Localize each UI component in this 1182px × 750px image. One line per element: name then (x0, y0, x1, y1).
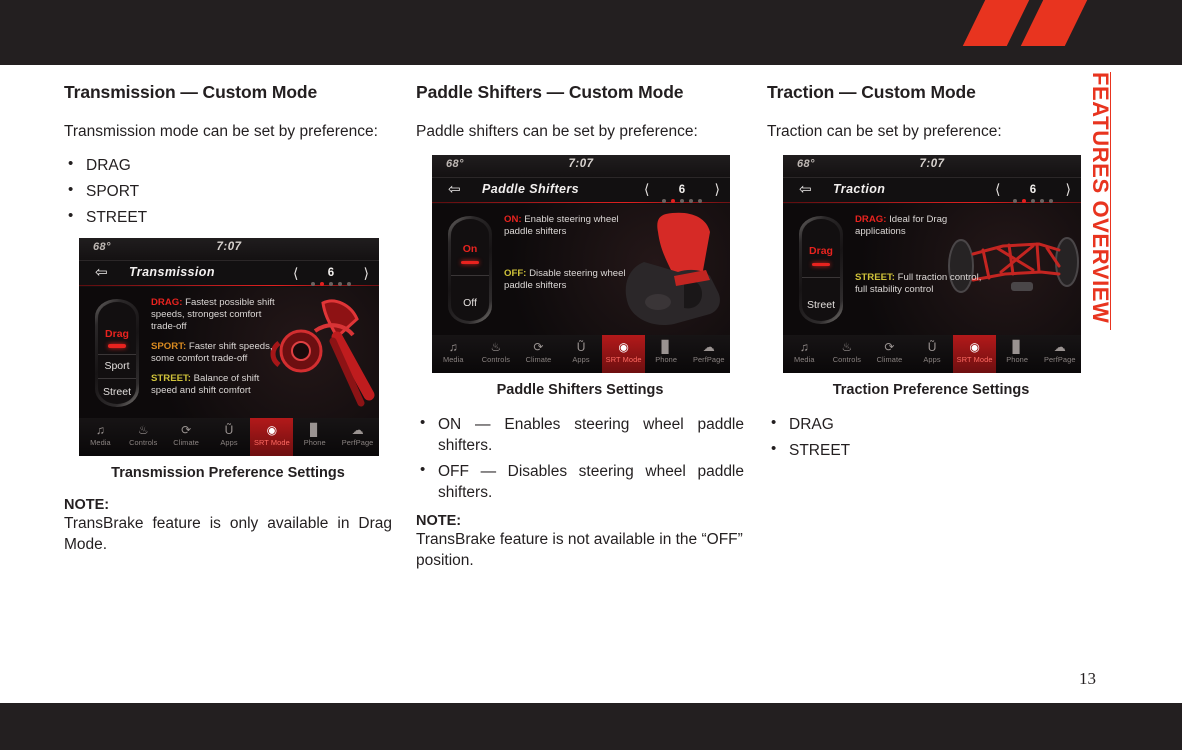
screen-pager[interactable]: ⟨ 6 ⟩ (293, 264, 369, 282)
column-paddle-shifters: Paddle Shifters — Custom Mode Paddle shi… (416, 82, 744, 572)
list-item: STREET (64, 207, 392, 228)
fan-icon: ⟳ (868, 339, 911, 355)
desc-key: STREET: (151, 373, 191, 384)
note-body: TransBrake feature is only available in … (64, 514, 392, 556)
page-number: 13 (1079, 669, 1096, 689)
screen-page-indicator: 6 (1030, 184, 1036, 196)
back-arrow-icon[interactable]: ⇦ (95, 266, 113, 280)
desc-key: ON: (504, 214, 522, 225)
nav-item-perf-page[interactable]: ☁ PerfPage (687, 335, 730, 373)
figure-caption: Transmission Preference Settings (64, 465, 392, 481)
nav-item-climate[interactable]: ⟳ Climate (868, 335, 911, 373)
music-note-icon: ♫ (783, 339, 826, 355)
nav-item-srt-mode[interactable]: ◉ SRT Mode (602, 335, 645, 373)
intro-text: Transmission mode can be set by preferen… (64, 122, 392, 143)
page-header-band (0, 0, 1182, 65)
screen-page-indicator: 6 (679, 184, 685, 196)
note-label: NOTE: (416, 513, 744, 529)
screen-content: Drag Street (783, 204, 1081, 336)
nav-item-apps[interactable]: Ũ Apps (911, 335, 954, 373)
chevron-right-icon[interactable]: ⟩ (1066, 181, 1071, 198)
nav-item-climate[interactable]: ⟳ Climate (517, 335, 560, 373)
column-transmission: Transmission — Custom Mode Transmission … (64, 82, 392, 556)
rocker-option-drag[interactable]: Drag (802, 245, 840, 257)
screen-status-bar: 68° 7:07 (432, 155, 730, 178)
nav-label: PerfPage (336, 438, 379, 447)
srt-gauge-icon: ◉ (602, 339, 645, 355)
nav-label: Media (79, 438, 122, 447)
rocker-switch-paddle-shifters[interactable]: On Off (448, 216, 492, 324)
figure-caption: Paddle Shifters Settings (416, 382, 744, 398)
list-item: SPORT (64, 181, 392, 202)
screen-description-text: DRAG: Ideal for Drag applications STREET… (855, 214, 985, 304)
nav-item-apps[interactable]: Ũ Apps (208, 418, 251, 456)
apps-icon: Ũ (208, 422, 251, 438)
note-label: NOTE: (64, 497, 392, 513)
nav-label: SRT Mode (250, 438, 293, 447)
intro-text: Paddle shifters can be set by preference… (416, 122, 744, 143)
perf-page-icon: ☁ (687, 339, 730, 355)
desc-key: STREET: (855, 272, 895, 283)
seat-heat-icon: ♨ (475, 339, 518, 355)
uconnect-screenshot-paddle-shifters: 68° 7:07 ⇦ Paddle Shifters ⟨ 6 ⟩ On Off (432, 155, 730, 373)
nav-label: Controls (475, 355, 518, 364)
music-note-icon: ♫ (432, 339, 475, 355)
nav-item-climate[interactable]: ⟳ Climate (165, 418, 208, 456)
nav-label: Phone (996, 355, 1039, 364)
nav-item-controls[interactable]: ♨ Controls (122, 418, 165, 456)
screen-pager[interactable]: ⟨ 6 ⟩ (995, 181, 1071, 199)
nav-label: Phone (293, 438, 336, 447)
column-traction: Traction — Custom Mode Traction can be s… (767, 82, 1095, 471)
page-footer-band (0, 703, 1182, 750)
nav-label: Controls (122, 438, 165, 447)
nav-item-phone[interactable]: ▊ Phone (293, 418, 336, 456)
nav-label: PerfPage (1038, 355, 1081, 364)
rocker-option-street[interactable]: Street (802, 299, 840, 311)
chevron-left-icon[interactable]: ⟨ (293, 265, 298, 282)
rocker-option-drag[interactable]: Drag (98, 328, 136, 340)
fan-icon: ⟳ (517, 339, 560, 355)
signal-bars-icon: ▊ (996, 339, 1039, 355)
desc-key: SPORT: (151, 341, 186, 352)
nav-label: SRT Mode (953, 355, 996, 364)
nav-item-perf-page[interactable]: ☁ PerfPage (336, 418, 379, 456)
page-title: Paddle Shifters — Custom Mode (416, 82, 744, 103)
list-item: ON — Enables steering wheel paddle shift… (416, 414, 744, 456)
nav-item-perf-page[interactable]: ☁ PerfPage (1038, 335, 1081, 373)
rocker-selection-bar (461, 261, 479, 265)
nav-label: SRT Mode (602, 355, 645, 364)
music-note-icon: ♫ (79, 422, 122, 438)
clock-readout: 7:07 (79, 241, 379, 253)
rocker-selection-bar (812, 263, 830, 267)
back-arrow-icon[interactable]: ⇦ (799, 183, 817, 197)
nav-item-media[interactable]: ♫ Media (79, 418, 122, 456)
intro-text: Traction can be set by preference: (767, 122, 1095, 143)
screen-title: Traction (833, 182, 885, 196)
list-item: STREET (767, 440, 1095, 461)
nav-item-media[interactable]: ♫ Media (432, 335, 475, 373)
page-title: Transmission — Custom Mode (64, 82, 392, 103)
screen-page-dots (311, 282, 351, 286)
screen-description-text: ON: Enable steering wheel paddle shifter… (504, 214, 634, 300)
list-item: OFF — Disables steering wheel paddle shi… (416, 461, 744, 503)
back-arrow-icon[interactable]: ⇦ (448, 183, 466, 197)
signal-bars-icon: ▊ (293, 422, 336, 438)
screen-status-bar: 68° 7:07 (79, 238, 379, 261)
rocker-switch-traction[interactable]: Drag Street (799, 216, 843, 324)
nav-item-controls[interactable]: ♨ Controls (475, 335, 518, 373)
chevron-left-icon[interactable]: ⟨ (644, 181, 649, 198)
seat-heat-icon: ♨ (826, 339, 869, 355)
screen-content: On Off ON: Enable steering wheel paddle … (432, 204, 730, 336)
clock-readout: 7:07 (783, 158, 1081, 170)
nav-label: Media (783, 355, 826, 364)
apps-icon: Ũ (911, 339, 954, 355)
section-side-tab: FEATURES OVERVIEW (1110, 72, 1156, 330)
screen-status-bar: 68° 7:07 (783, 155, 1081, 178)
screen-title: Transmission (129, 265, 215, 279)
nav-item-phone[interactable]: ▊ Phone (645, 335, 688, 373)
desc-text: Enable steering wheel paddle shifters (504, 214, 619, 237)
nav-item-apps[interactable]: Ũ Apps (560, 335, 603, 373)
nav-label: Climate (868, 355, 911, 364)
nav-item-controls[interactable]: ♨ Controls (826, 335, 869, 373)
apps-icon: Ũ (560, 339, 603, 355)
rocker-switch-transmission[interactable]: Drag Sport Street (95, 299, 139, 407)
uconnect-screenshot-traction: 68° 7:07 ⇦ Traction ⟨ 6 ⟩ Drag Street (783, 155, 1081, 373)
screen-page-indicator: 6 (328, 267, 334, 279)
rocker-option-sport[interactable]: Sport (98, 360, 136, 372)
transmission-options-list: DRAG SPORT STREET (64, 155, 392, 228)
uconnect-screenshot-transmission: 68° 7:07 ⇦ Transmission ⟨ 6 ⟩ Drag S (79, 238, 379, 456)
nav-item-media[interactable]: ♫ Media (783, 335, 826, 373)
traction-options-list: DRAG STREET (767, 414, 1095, 461)
nav-label: Climate (165, 438, 208, 447)
screen-bottom-nav[interactable]: ♫ Media ♨ Controls ⟳ Climate Ũ Apps ◉ SR… (432, 335, 730, 373)
dodge-stripe-logo-icon (956, 0, 1096, 46)
screen-bottom-nav[interactable]: ♫ Media ♨ Controls ⟳ Climate Ũ Apps ◉ SR… (783, 335, 1081, 373)
screen-content: Drag Sport Street (79, 287, 379, 419)
perf-page-icon: ☁ (336, 422, 379, 438)
nav-label: Controls (826, 355, 869, 364)
signal-bars-icon: ▊ (645, 339, 688, 355)
desc-key: DRAG: (151, 297, 182, 308)
nav-label: Apps (208, 438, 251, 447)
chevron-left-icon[interactable]: ⟨ (995, 181, 1000, 198)
srt-gauge-icon: ◉ (953, 339, 996, 355)
screen-bottom-nav[interactable]: ♫ Media ♨ Controls ⟳ Climate Ũ Apps ◉ SR… (79, 418, 379, 456)
clock-readout: 7:07 (432, 158, 730, 170)
perf-page-icon: ☁ (1038, 339, 1081, 355)
screen-page-dots (662, 199, 702, 203)
figure-caption: Traction Preference Settings (767, 382, 1095, 398)
screen-page-dots (1013, 199, 1053, 203)
list-item: DRAG (64, 155, 392, 176)
nav-label: PerfPage (687, 355, 730, 364)
nav-item-srt-mode[interactable]: ◉ SRT Mode (953, 335, 996, 373)
nav-label: Apps (560, 355, 603, 364)
chevron-right-icon[interactable]: ⟩ (364, 265, 369, 282)
paddle-shifter-options-list: ON — Enables steering wheel paddle shift… (416, 414, 744, 503)
nav-label: Climate (517, 355, 560, 364)
desc-key: OFF: (504, 268, 526, 279)
screen-pager[interactable]: ⟨ 6 ⟩ (644, 181, 720, 199)
seat-heat-icon: ♨ (122, 422, 165, 438)
rocker-option-street[interactable]: Street (98, 386, 136, 398)
nav-label: Media (432, 355, 475, 364)
desc-key: DRAG: (855, 214, 886, 225)
nav-label: Phone (645, 355, 688, 364)
nav-item-srt-mode[interactable]: ◉ SRT Mode (250, 418, 293, 456)
fan-icon: ⟳ (165, 422, 208, 438)
list-item: DRAG (767, 414, 1095, 435)
page-title: Traction — Custom Mode (767, 82, 1095, 103)
transmission-shifter-artwork (265, 291, 379, 415)
note-body: TransBrake feature is not available in t… (416, 530, 744, 572)
screen-title: Paddle Shifters (482, 182, 579, 196)
rocker-option-off[interactable]: Off (451, 297, 489, 309)
nav-label: Apps (911, 355, 954, 364)
screen-description-text: DRAG: Fastest possible shift speeds, str… (151, 297, 281, 405)
nav-item-phone[interactable]: ▊ Phone (996, 335, 1039, 373)
rocker-selection-bar (108, 344, 126, 348)
rocker-option-on[interactable]: On (451, 243, 489, 255)
srt-gauge-icon: ◉ (250, 422, 293, 438)
chevron-right-icon[interactable]: ⟩ (715, 181, 720, 198)
